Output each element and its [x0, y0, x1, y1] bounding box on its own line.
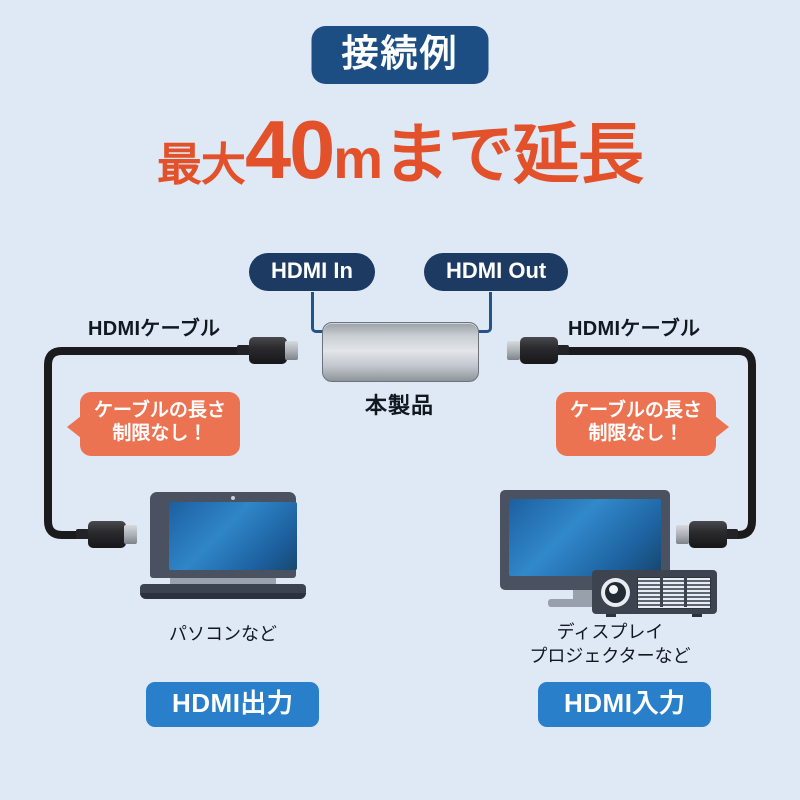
- badge-hdmi-input: HDMI入力: [538, 682, 711, 727]
- page-title-badge: 接続例: [312, 26, 489, 84]
- port-label-hdmi-in: HDMI In: [249, 253, 375, 291]
- plug-tip: [507, 341, 520, 360]
- callout-right: ケーブルの長さ 制限なし！: [556, 392, 716, 456]
- laptop-icon: [140, 492, 306, 604]
- laptop-lid: [150, 492, 296, 578]
- caption-right-line1: ディスプレイ: [500, 620, 720, 644]
- laptop-base: [140, 584, 306, 599]
- port-label-hdmi-out: HDMI Out: [424, 253, 568, 291]
- laptop-webcam: [231, 496, 235, 500]
- callout-right-line1: ケーブルの長さ: [570, 400, 702, 423]
- cable-label-left: HDMIケーブル: [88, 312, 220, 341]
- projector-icon: [592, 570, 717, 617]
- callout-tail: [67, 416, 81, 438]
- projector-vent: [637, 577, 711, 609]
- headline-number: 40: [245, 103, 333, 196]
- plug-body: [88, 521, 126, 548]
- caption-right-line2: プロジェクターなど: [500, 644, 720, 668]
- projector-lens-highlight: [609, 585, 618, 594]
- callout-left: ケーブルの長さ 制限なし！: [80, 392, 240, 456]
- product-label: 本製品: [322, 388, 477, 420]
- headline-unit: m: [333, 127, 383, 190]
- projector-vent-divider: [660, 577, 663, 607]
- plug-tip: [676, 525, 689, 544]
- plug-body: [249, 337, 287, 364]
- plug-tip: [124, 525, 137, 544]
- laptop-screen: [169, 502, 297, 570]
- headline-suffix: まで延長: [383, 117, 643, 191]
- projector-foot: [606, 614, 616, 617]
- badge-hdmi-output: HDMI出力: [146, 682, 319, 727]
- callout-left-line2: 制限なし！: [94, 423, 226, 446]
- plug-tip: [285, 341, 298, 360]
- cable-label-right: HDMIケーブル: [568, 312, 700, 341]
- headline-prefix: 最大: [157, 139, 245, 190]
- plug-body: [689, 521, 727, 548]
- callout-left-line1: ケーブルの長さ: [94, 400, 226, 423]
- projector-foot: [692, 614, 702, 617]
- projector-vent-divider: [684, 577, 687, 607]
- plug-body: [520, 337, 558, 364]
- callout-tail: [715, 416, 729, 438]
- headline: 最大40mまで延長: [0, 108, 800, 191]
- caption-left-device: パソコンなど: [123, 622, 323, 646]
- caption-right-device: ディスプレイ プロジェクターなど: [500, 620, 720, 669]
- diagram-canvas: 接続例 最大40mまで延長 HDMI In HDMI Out 本製品 HDMIケ…: [0, 0, 800, 800]
- monitor-screen: [509, 499, 661, 576]
- product-unit: [322, 322, 479, 382]
- callout-right-line2: 制限なし！: [570, 423, 702, 446]
